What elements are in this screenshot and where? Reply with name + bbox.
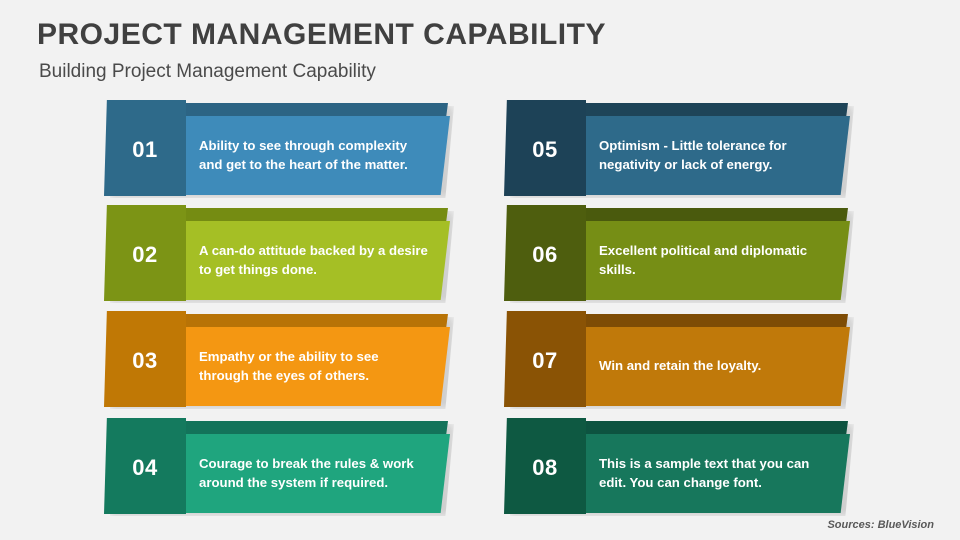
item-text: Ability to see through complexity and ge… (199, 116, 431, 195)
item-number: 03 (104, 311, 186, 407)
sources-note: Sources: BlueVision (827, 519, 934, 531)
item-text: Win and retain the loyalty. (599, 327, 831, 406)
item-text: Excellent political and diplomatic skill… (599, 221, 831, 300)
item-number: 05 (504, 100, 586, 196)
capability-item-05[interactable]: 05 Optimism - Little tolerance for negat… (504, 100, 854, 198)
item-number: 06 (504, 205, 586, 301)
item-number: 08 (504, 418, 586, 514)
item-text: Courage to break the rules & work around… (199, 434, 431, 513)
capability-item-03[interactable]: 03 Empathy or the ability to see through… (104, 311, 454, 409)
capability-item-06[interactable]: 06 Excellent political and diplomatic sk… (504, 205, 854, 303)
item-number: 02 (104, 205, 186, 301)
capability-item-08[interactable]: 08 This is a sample text that you can ed… (504, 418, 854, 516)
item-text: Empathy or the ability to see through th… (199, 327, 431, 406)
item-number: 01 (104, 100, 186, 196)
item-text: Optimism - Little tolerance for negativi… (599, 116, 831, 195)
item-text: A can-do attitude backed by a desire to … (199, 221, 431, 300)
item-number: 07 (504, 311, 586, 407)
item-text: This is a sample text that you can edit.… (599, 434, 831, 513)
item-number: 04 (104, 418, 186, 514)
capability-item-07[interactable]: 07 Win and retain the loyalty. (504, 311, 854, 409)
capability-item-04[interactable]: 04 Courage to break the rules & work aro… (104, 418, 454, 516)
capability-item-01[interactable]: 01 Ability to see through complexity and… (104, 100, 454, 198)
capability-item-02[interactable]: 02 A can-do attitude backed by a desire … (104, 205, 454, 303)
capability-items-grid: 01 Ability to see through complexity and… (0, 0, 960, 540)
